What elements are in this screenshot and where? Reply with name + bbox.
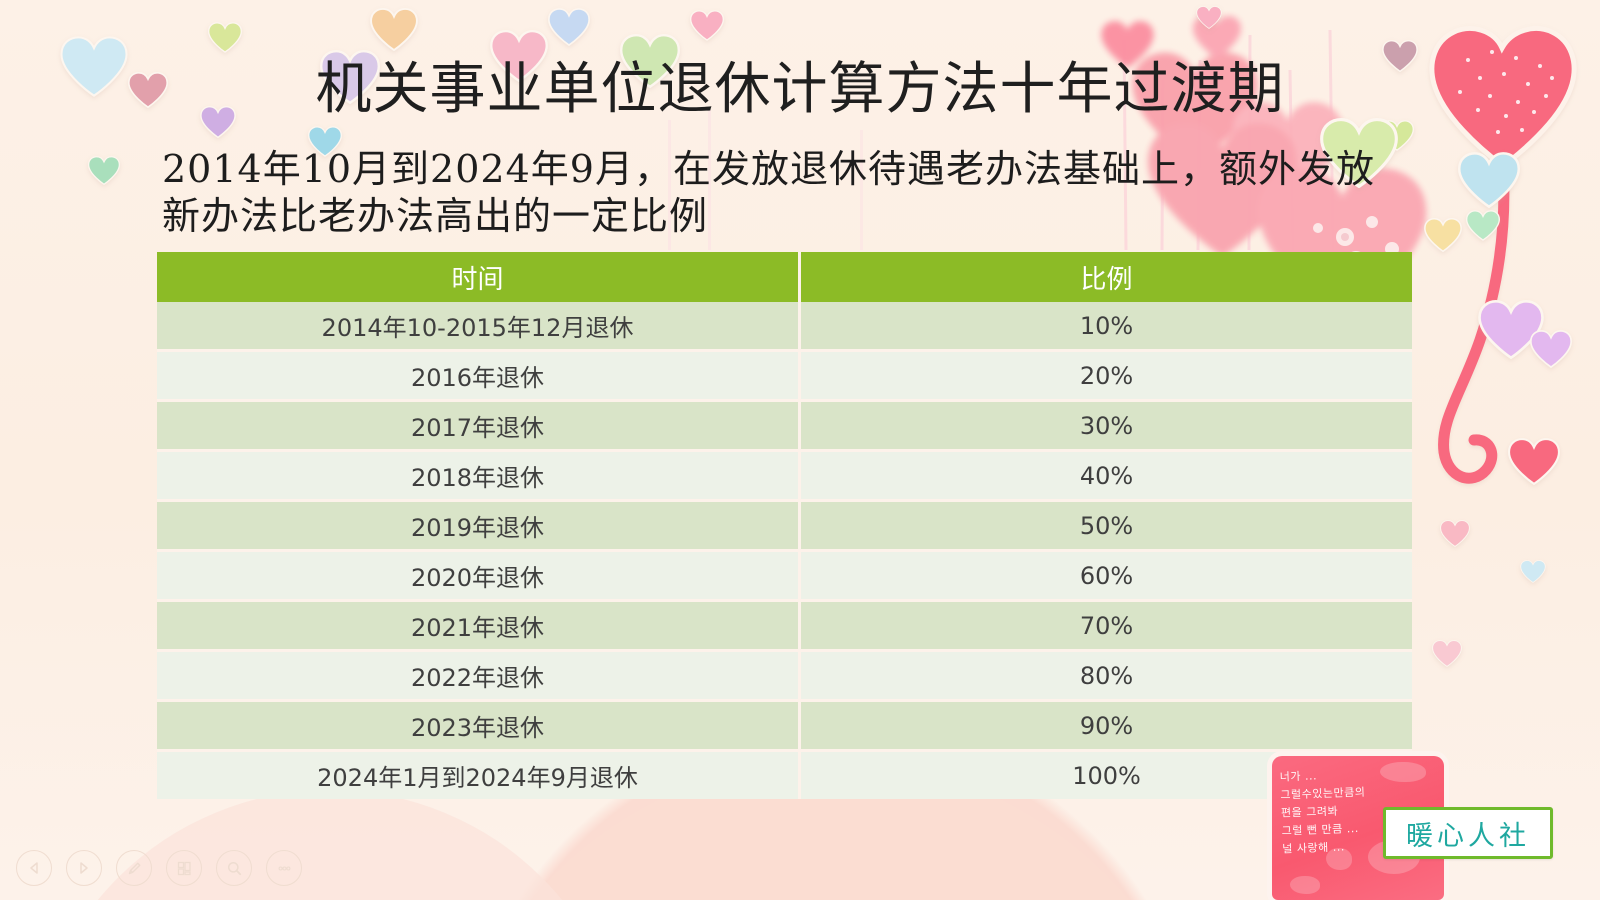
table-row: 2022年退休80% [157,652,1412,702]
table-row: 2019年退休50% [157,502,1412,552]
table-row: 2020年退休60% [157,552,1412,602]
cell-time: 2020年退休 [157,552,801,602]
cell-ratio: 30% [801,402,1412,452]
presentation-slide: 机关事业单位退休计算方法十年过渡期 2014年10月到2024年9月，在发放退休… [0,0,1600,900]
table-header-row: 时间 比例 [157,252,1412,302]
table-row: 2016年退休20% [157,352,1412,402]
watermark-text: 暖心人社 [1406,814,1530,853]
table-row: 2021年退休70% [157,602,1412,652]
grid-icon [176,860,193,877]
slide-title: 机关事业单位退休计算方法十年过渡期 [0,57,1600,123]
cell-time: 2016年退休 [157,352,801,402]
ellipsis-icon [276,860,293,877]
cell-time: 2024年1月到2024年9月退休 [157,752,801,799]
magnifier-icon [226,860,243,877]
slideshow-toolbar[interactable] [16,850,302,886]
triangle-left-icon [27,861,41,875]
cell-ratio: 10% [801,302,1412,352]
table-row: 2018年退休40% [157,452,1412,502]
slide-subtitle: 2014年10月到2024年9月，在发放退休待遇老办法基础上，额外发放新办法比老… [162,146,1412,240]
table-row: 2024年1月到2024年9月退休100% [157,752,1412,799]
cell-ratio: 80% [801,652,1412,702]
cell-time: 2017年退休 [157,402,801,452]
table-row: 2023年退休90% [157,702,1412,752]
table-row: 2017年退休30% [157,402,1412,452]
watermark-logo: 暖心人社 [1383,807,1553,859]
column-header-ratio: 比例 [801,252,1412,302]
cell-ratio: 70% [801,602,1412,652]
zoom-button[interactable] [216,850,252,886]
table-row: 2014年10-2015年12月退休10% [157,302,1412,352]
next-slide-button[interactable] [66,850,102,886]
cell-ratio: 90% [801,702,1412,752]
cell-time: 2014年10-2015年12月退休 [157,302,801,352]
transition-ratio-table: 时间 比例 2014年10-2015年12月退休10% 2016年退休20% 2… [157,252,1412,799]
pen-icon [126,860,143,877]
cell-time: 2022年退休 [157,652,801,702]
pen-tool-button[interactable] [116,850,152,886]
column-header-time: 时间 [157,252,801,302]
previous-slide-button[interactable] [16,850,52,886]
cell-time: 2023年退休 [157,702,801,752]
cell-time: 2019年退休 [157,502,801,552]
cell-ratio: 40% [801,452,1412,502]
triangle-right-icon [77,861,91,875]
cell-ratio: 50% [801,502,1412,552]
slide-grid-button[interactable] [166,850,202,886]
cell-ratio: 20% [801,352,1412,402]
cell-time: 2018年退休 [157,452,801,502]
cell-ratio: 60% [801,552,1412,602]
cell-time: 2021年退休 [157,602,801,652]
table-body: 2014年10-2015年12月退休10% 2016年退休20% 2017年退休… [157,302,1412,799]
more-options-button[interactable] [266,850,302,886]
